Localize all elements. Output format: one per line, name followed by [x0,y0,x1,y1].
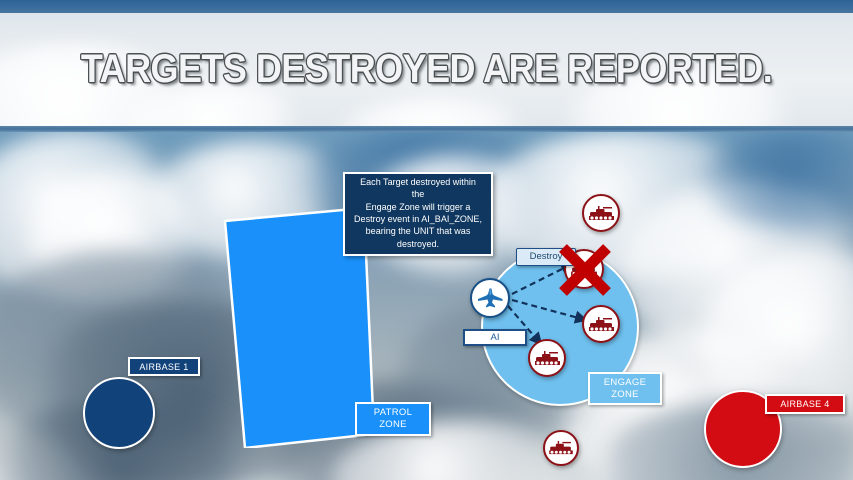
fighter-jet-icon [475,286,505,310]
target-unit-marker[interactable] [582,194,620,232]
page-title: TARGETS DESTROYED ARE REPORTED. [43,13,811,126]
title-band-underline [0,126,853,132]
callout-text: Each Target destroyed within the Engage … [353,177,482,251]
airbase-1-zone [83,377,155,449]
airbase-1-label: AIRBASE 1 [128,357,200,376]
destroy-event-label: Destroy [516,248,576,266]
target-unit-marker[interactable] [582,305,620,343]
callout-box: Each Target destroyed within the Engage … [343,172,493,256]
target-unit-marker[interactable] [543,430,579,466]
engage-zone-label: ENGAGE ZONE [588,372,662,405]
tank-icon [548,440,574,456]
tank-icon [534,350,561,367]
top-accent-band [0,0,853,13]
slide-canvas: TARGETS DESTROYED ARE REPORTED. [0,0,853,480]
tank-icon [588,205,615,222]
airbase-4-label: AIRBASE 4 [765,394,845,414]
tank-icon [588,316,615,333]
ai-unit-marker[interactable] [470,278,510,318]
target-unit-marker[interactable] [528,339,566,377]
ai-unit-label: AI [463,329,527,346]
patrol-zone-label: PATROL ZONE [355,402,431,436]
